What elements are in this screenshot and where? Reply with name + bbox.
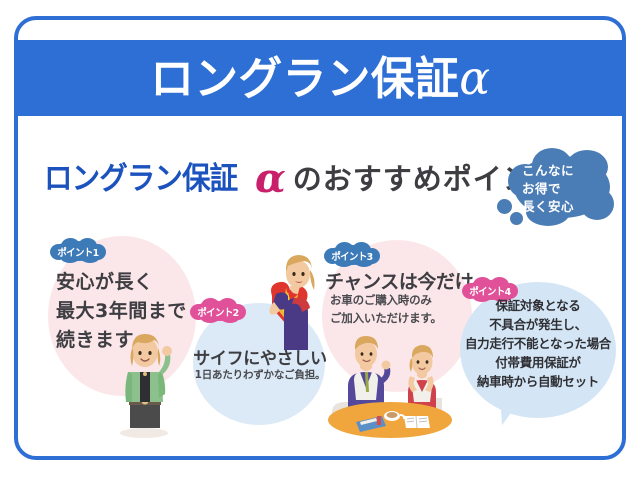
point1-badge-label: ポイント1: [52, 238, 105, 264]
banner-title-main: ロングラン保証: [150, 52, 459, 105]
point1-line-1: 安心が長く: [56, 268, 187, 297]
catchphrase-line-1: こんなに: [522, 162, 608, 180]
point2-badge: ポイント2: [190, 298, 246, 324]
point1-line-2: 最大3年間まで: [56, 297, 187, 326]
point1-text: 安心が長く 最大3年間まで 続きます: [56, 268, 187, 355]
point3-sub-line-2: ご加入いただけます。: [330, 310, 442, 328]
banner-title-alpha: α: [459, 51, 490, 106]
warranty-poster: ロングラン保証α ロングラン保証 α のおすすめポイント こんなに お得で 長く…: [0, 0, 640, 480]
point4-line-3: 自力走行不能となった場合: [458, 334, 618, 353]
catchphrase-line-3: 長く安心: [522, 198, 608, 216]
point3-sub-line-1: お車のご購入時のみ: [330, 292, 442, 310]
point1-line-3: 続きます: [56, 326, 187, 355]
headline: ロングラン保証 α のおすすめポイント: [44, 152, 563, 199]
point4-line-1: 保証対象となる: [458, 296, 618, 315]
point3-badge-label: ポイント3: [326, 242, 379, 268]
catchphrase-bubble: こんなに お得で 長く安心: [508, 148, 616, 226]
headline-brand: ロングラン保証: [44, 153, 237, 198]
catchphrase-text: こんなに お得で 長く安心: [522, 162, 608, 215]
banner-title-bar: ロングラン保証α: [14, 40, 626, 116]
point4-line-5: 納車時から自動セット: [458, 372, 618, 391]
point4-text: 保証対象となる 不具合が発生し、 自力走行不能となった場合 付帯費用保証が 納車…: [458, 296, 618, 391]
point2-subtext: 1日あたりわずかなご負担。: [186, 367, 334, 382]
point1-badge: ポイント1: [50, 238, 106, 264]
point3-illustration-consultation: [320, 330, 460, 438]
point4-line-2: 不具合が発生し、: [458, 315, 618, 334]
point2-heading: サイフにやさしい: [190, 344, 330, 369]
headline-alpha: α: [255, 155, 286, 202]
point3-heading: チャンスは今だけ: [325, 267, 473, 294]
banner-title: ロングラン保証α: [150, 55, 490, 102]
point2-badge-label: ポイント2: [192, 298, 245, 324]
point3-badge: ポイント3: [324, 242, 380, 268]
point3-subtext: お車のご購入時のみ ご加入いただけます。: [330, 292, 442, 328]
point4-line-4: 付帯費用保証が: [458, 353, 618, 372]
catchphrase-line-2: お得で: [522, 180, 608, 198]
